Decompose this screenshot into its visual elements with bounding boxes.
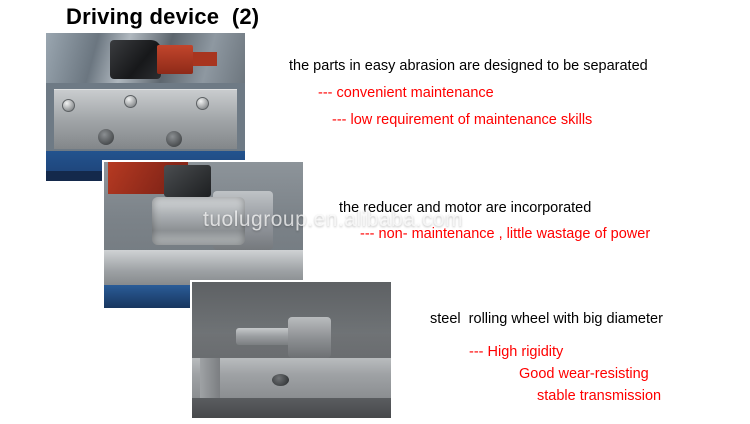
photo-1-hole — [166, 131, 182, 147]
photo-1-bolt — [62, 99, 75, 112]
photo-1-red-motor — [157, 45, 193, 75]
block-2-line-2: --- non- maintenance , little wastage of… — [360, 226, 650, 242]
block-3-line-3: Good wear-resisting — [519, 366, 649, 382]
block-1-line-2: --- convenient maintenance — [318, 85, 494, 101]
block-3-line-1: steel rolling wheel with big diameter — [430, 311, 663, 327]
photo-1-bolt — [124, 95, 137, 108]
block-2-line-1: the reducer and motor are incorporated — [339, 200, 591, 216]
photo-2-drum-main — [152, 197, 246, 245]
photo-3 — [190, 280, 393, 420]
photo-1-bolt — [196, 97, 209, 110]
page-title: Driving device (2) — [66, 4, 259, 30]
slide: Driving device (2) the — [0, 0, 750, 424]
photo-2-dark-head — [164, 165, 212, 197]
block-3-line-4: stable transmission — [537, 388, 661, 404]
block-3-line-2: --- High rigidity — [469, 344, 563, 360]
block-1-line-1: the parts in easy abrasion are designed … — [289, 58, 648, 74]
photo-1-hole — [98, 129, 114, 145]
block-1-line-3: --- low requirement of maintenance skill… — [332, 112, 592, 128]
photo-1-red-bracket — [193, 52, 217, 65]
photo-3-base — [192, 398, 391, 418]
photo-1-gearbox — [110, 40, 162, 78]
photo-3-table — [192, 358, 391, 399]
photo-1-steel-plate — [54, 89, 237, 149]
photo-3-rolling-wheel — [288, 317, 332, 358]
